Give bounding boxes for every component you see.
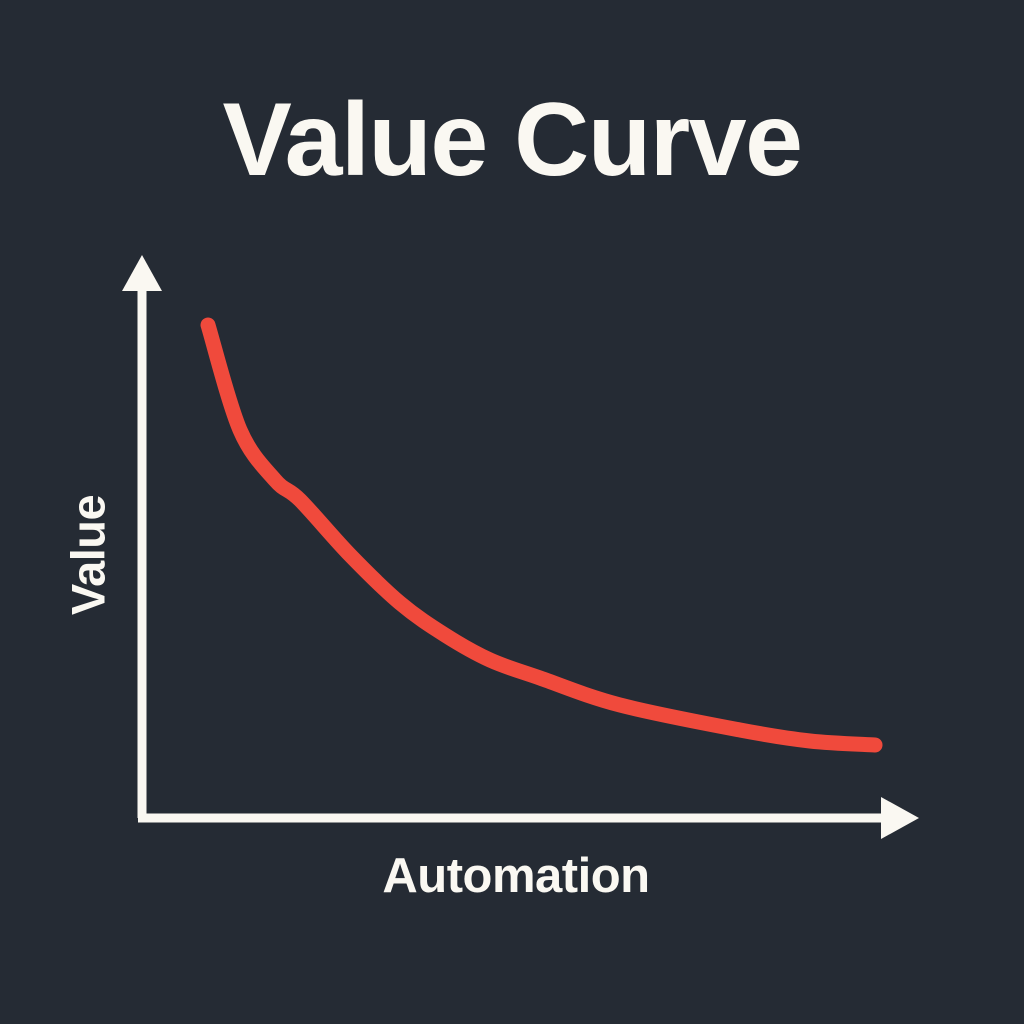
y-axis-label: Value [65,495,112,615]
chart-canvas: Value Curve Value Automation [0,0,1024,1024]
arrow-right-icon [881,797,919,839]
page-title: Value Curve [0,88,1024,192]
arrow-up-icon [122,255,162,291]
value-decay-curve [208,325,875,745]
x-axis-label: Automation [166,852,866,901]
